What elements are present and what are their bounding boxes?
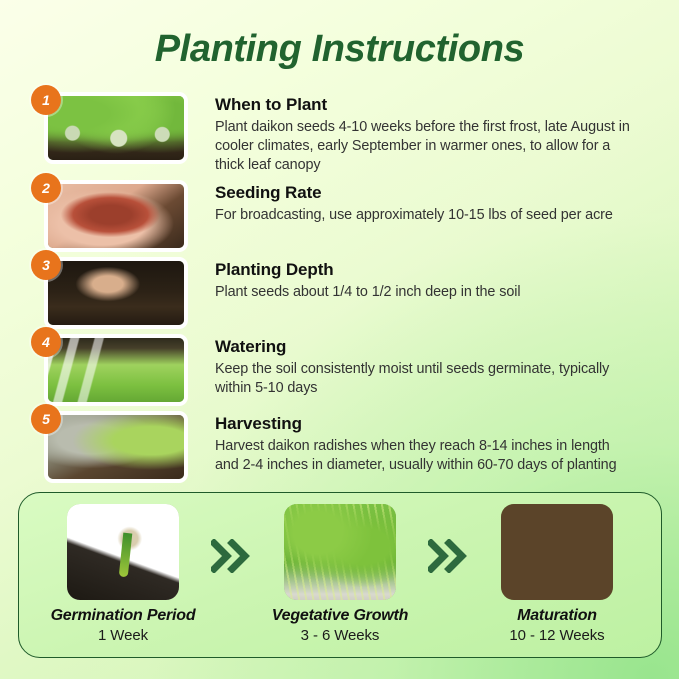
step-text: Harvesting Harvest daikon radishes when … xyxy=(188,411,679,475)
step-item: 5 Harvesting Harvest daikon radishes whe… xyxy=(0,411,679,483)
step-number-badge: 4 xyxy=(31,327,61,357)
timeline-stage: Vegetative Growth 3 - 6 Weeks xyxy=(260,504,420,646)
double-chevron-right-icon xyxy=(428,539,470,573)
hand-harvesting-daikon-photo xyxy=(44,411,188,483)
step-item: 2 Seeding Rate For broadcasting, use app… xyxy=(0,180,679,252)
step-description: For broadcasting, use approximately 10-1… xyxy=(215,206,635,225)
daikon-plants-row-photo xyxy=(44,92,188,164)
step-title: Harvesting xyxy=(215,413,679,435)
step-title: When to Plant xyxy=(215,94,679,116)
timeline-stage-duration: 1 Week xyxy=(43,626,203,646)
step-description: Plant seeds about 1/4 to 1/2 inch deep i… xyxy=(215,283,635,302)
step-item: 3 Planting Depth Plant seeds about 1/4 t… xyxy=(0,257,679,329)
photo-art xyxy=(48,338,184,402)
step-text: Planting Depth Plant seeds about 1/4 to … xyxy=(188,257,679,302)
photo-art xyxy=(67,504,179,600)
irrigation-sprinkler-field-photo xyxy=(44,334,188,406)
step-description: Plant daikon seeds 4-10 weeks before the… xyxy=(215,118,635,175)
photo-art xyxy=(48,261,184,325)
step-thumbnail-wrap: 3 xyxy=(44,257,188,329)
step-title: Seeding Rate xyxy=(215,182,679,204)
timeline-stage-label: Maturation xyxy=(477,606,637,626)
photo-art xyxy=(284,504,396,600)
step-item: 1 When to Plant Plant daikon seeds 4-10 … xyxy=(0,92,679,175)
step-thumbnail-wrap: 1 xyxy=(44,92,188,164)
growth-timeline-panel: Germination Period 1 Week Vegetative Gro… xyxy=(18,492,662,658)
step-number-badge: 1 xyxy=(31,85,61,115)
timeline-stage: Maturation 10 - 12 Weeks xyxy=(477,504,637,646)
step-text: When to Plant Plant daikon seeds 4-10 we… xyxy=(188,92,679,175)
timeline-stage-label: Vegetative Growth xyxy=(260,606,420,626)
step-description: Keep the soil consistently moist until s… xyxy=(215,360,635,398)
timeline-stage-duration: 10 - 12 Weeks xyxy=(477,626,637,646)
step-number-badge: 2 xyxy=(31,173,61,203)
mature-daikon-in-soil-photo xyxy=(501,504,613,600)
step-number-badge: 3 xyxy=(31,250,61,280)
step-item: 4 Watering Keep the soil consistently mo… xyxy=(0,334,679,406)
page-title: Planting Instructions xyxy=(0,26,679,72)
double-chevron-right-icon xyxy=(211,539,253,573)
step-description: Harvest daikon radishes when they reach … xyxy=(215,437,635,475)
photo-art xyxy=(48,96,184,160)
timeline-stage: Germination Period 1 Week xyxy=(43,504,203,646)
photo-art xyxy=(48,184,184,248)
step-title: Watering xyxy=(215,336,679,358)
step-text: Watering Keep the soil consistently mois… xyxy=(188,334,679,398)
step-number-badge: 5 xyxy=(31,404,61,434)
photo-art xyxy=(48,415,184,479)
sprouting-seed-photo xyxy=(67,504,179,600)
microgreens-leaves-photo xyxy=(284,504,396,600)
step-title: Planting Depth xyxy=(215,259,679,281)
hand-holding-seeds-photo xyxy=(44,180,188,252)
step-thumbnail-wrap: 2 xyxy=(44,180,188,252)
hand-sowing-seeds-soil-photo xyxy=(44,257,188,329)
timeline-stage-duration: 3 - 6 Weeks xyxy=(260,626,420,646)
timeline-stage-label: Germination Period xyxy=(43,606,203,626)
planting-instructions-infographic: Planting Instructions 1 When to Plant Pl… xyxy=(0,0,679,679)
steps-list: 1 When to Plant Plant daikon seeds 4-10 … xyxy=(0,92,679,483)
step-thumbnail-wrap: 4 xyxy=(44,334,188,406)
photo-art xyxy=(501,504,613,600)
step-thumbnail-wrap: 5 xyxy=(44,411,188,483)
step-text: Seeding Rate For broadcasting, use appro… xyxy=(188,180,679,225)
